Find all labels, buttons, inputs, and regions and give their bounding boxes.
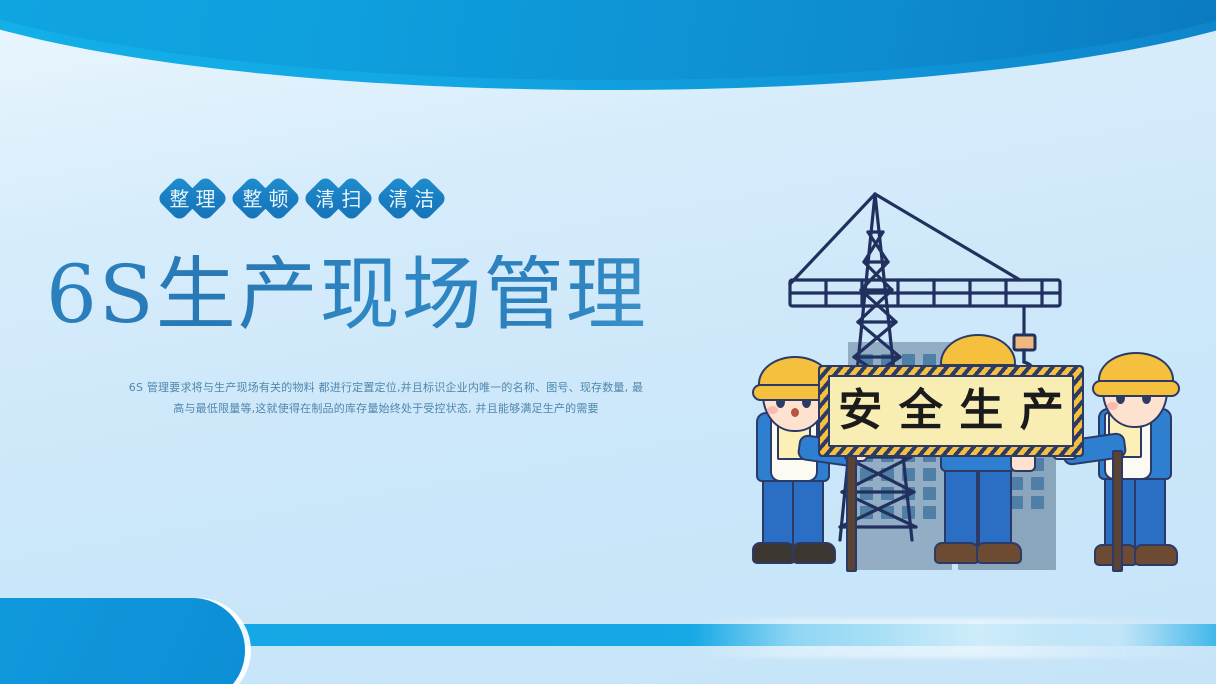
worker-cheek [767, 406, 778, 414]
sign-inner-panel: 安 全 生 产 [828, 375, 1074, 447]
principle-badge-row: 整 理 整 顿 清 扫 清 [163, 182, 441, 215]
diamond-shape: 理 [182, 175, 229, 222]
badge-qingjie[interactable]: 清 洁 [382, 182, 441, 215]
worker-cheek [1107, 402, 1118, 410]
top-band-blue-layer [0, 0, 1216, 80]
badge-char: 洁 [415, 189, 435, 209]
sign-char: 产 [1020, 389, 1064, 433]
diamond-shape: 洁 [401, 175, 448, 222]
sign-char: 全 [899, 389, 943, 433]
top-band-cyan-layer [0, 0, 1216, 90]
diamond-shape: 顿 [255, 175, 302, 222]
subtitle-line-2: 高与最低限量等,这就使得在制品的库存量始终处于受控状态, 并且能够满足生产的需要 [78, 398, 694, 419]
construction-illustration: 安 全 生 产 [700, 150, 1216, 570]
worker-helmet-brim [1092, 380, 1180, 397]
slide-canvas: 整 理 整 顿 清 扫 清 [0, 0, 1216, 684]
sign-post-left [846, 450, 857, 572]
badge-qingsao[interactable]: 清 扫 [309, 182, 368, 215]
badge-char: 顿 [269, 189, 289, 209]
bottom-haze-overlay [690, 618, 1216, 658]
worker-mouth [791, 408, 799, 417]
badge-zhengli[interactable]: 整 理 [163, 182, 222, 215]
worker-shoe [934, 542, 980, 564]
worker-shoe [976, 542, 1022, 564]
badge-char: 理 [196, 189, 216, 209]
sign-char: 安 [838, 389, 882, 433]
subtitle-paragraph: 6S 管理要求将与生产现场有关的物料 都进行定置定位,并且标识企业内唯一的名称、… [78, 377, 694, 419]
diamond-shape: 扫 [328, 175, 375, 222]
worker-shoe [752, 542, 796, 564]
top-decoration-band [0, 0, 1216, 130]
worker-shoe [1134, 544, 1178, 566]
subtitle-line-1: 6S 管理要求将与生产现场有关的物料 都进行定置定位,并且标识企业内唯一的名称、… [78, 377, 694, 398]
sign-post-right [1112, 450, 1123, 572]
worker-shoe [792, 542, 836, 564]
page-title: 6S生产现场管理 [46, 255, 648, 335]
bottom-left-pill-shape [0, 598, 245, 684]
safety-sign-board: 安 全 生 产 [818, 365, 1084, 457]
badge-zhengdun[interactable]: 整 顿 [236, 182, 295, 215]
badge-char: 扫 [342, 189, 362, 209]
sign-char: 生 [959, 389, 1003, 433]
worker-right [1078, 350, 1198, 570]
